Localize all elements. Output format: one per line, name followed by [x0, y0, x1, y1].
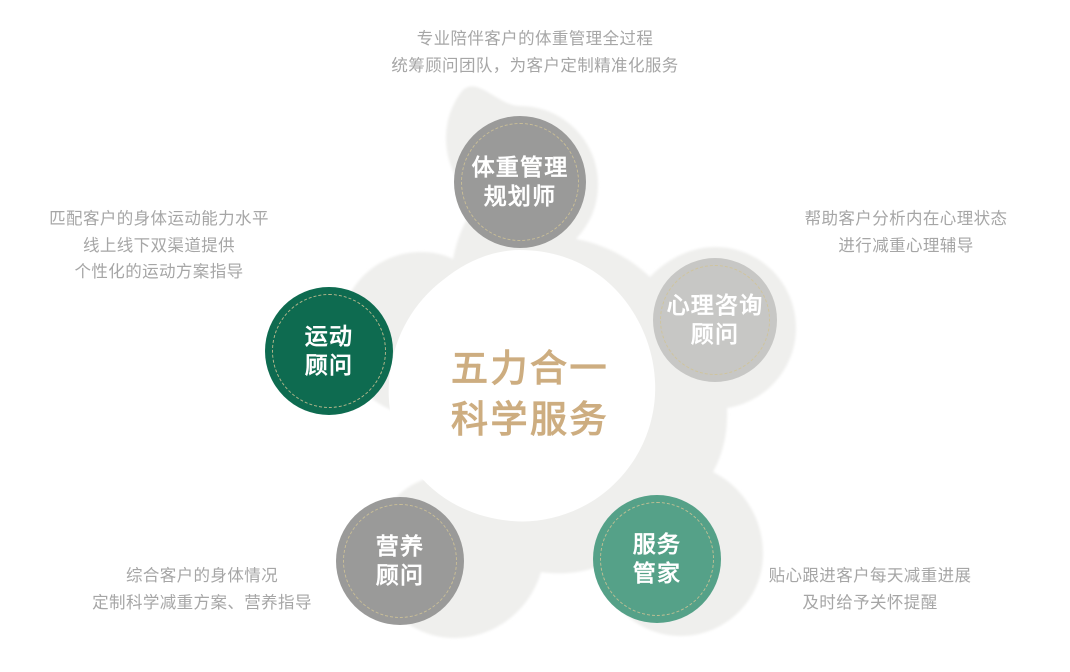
caption-right: 帮助客户分析内在心理状态 进行减重心理辅导 — [766, 206, 1046, 259]
caption-right-line2: 进行减重心理辅导 — [766, 233, 1046, 260]
petal-notches — [586, 211, 668, 279]
node-label-line2: 顾问 — [376, 561, 424, 590]
node-service-steward[interactable]: 服务 管家 — [593, 495, 721, 623]
caption-bottom-left: 综合客户的身体情况 定制科学减重方案、营养指导 — [62, 563, 342, 616]
node-label-line1: 服务 — [633, 530, 681, 559]
caption-top-line1: 专业陪伴客户的体重管理全过程 — [0, 26, 1070, 53]
caption-bottom-left-line2: 定制科学减重方案、营养指导 — [62, 590, 342, 617]
node-label-line1: 心理咨询 — [667, 291, 764, 320]
node-label-line1: 营养 — [376, 532, 424, 561]
node-label-line1: 运动 — [305, 322, 353, 351]
caption-bottom-left-line1: 综合客户的身体情况 — [62, 563, 342, 590]
node-label-line2: 顾问 — [305, 351, 353, 380]
caption-right-line1: 帮助客户分析内在心理状态 — [766, 206, 1046, 233]
node-sport-consultant[interactable]: 运动 顾问 — [265, 287, 393, 415]
caption-left-line1: 匹配客户的身体运动能力水平 — [14, 206, 304, 233]
caption-bottom-right-line2: 及时给予关怀提醒 — [730, 590, 1010, 617]
node-nutrition-consultant[interactable]: 营养 顾问 — [336, 497, 464, 625]
caption-left: 匹配客户的身体运动能力水平 线上线下双渠道提供 个性化的运动方案指导 — [14, 206, 304, 286]
node-label-line1: 体重管理 — [472, 153, 569, 182]
diagram-canvas: 专业陪伴客户的体重管理全过程 统筹顾问团队，为客户定制精准化服务 匹配客户的身体… — [0, 0, 1070, 672]
node-weight-management-planner[interactable]: 体重管理 规划师 — [454, 116, 586, 248]
caption-bottom-right: 贴心跟进客户每天减重进展 及时给予关怀提醒 — [730, 563, 1010, 616]
caption-left-line2: 线上线下双渠道提供 — [14, 233, 304, 260]
node-label-line2: 规划师 — [484, 182, 557, 211]
node-label-line2: 管家 — [633, 559, 681, 588]
caption-top: 专业陪伴客户的体重管理全过程 统筹顾问团队，为客户定制精准化服务 — [0, 26, 1070, 79]
center-title-line1: 五力合一 — [400, 343, 660, 394]
caption-bottom-right-line1: 贴心跟进客户每天减重进展 — [730, 563, 1010, 590]
caption-left-line3: 个性化的运动方案指导 — [14, 259, 304, 286]
node-psychology-consultant[interactable]: 心理咨询 顾问 — [653, 258, 777, 382]
center-title-line2: 科学服务 — [400, 394, 660, 445]
center-title: 五力合一 科学服务 — [400, 343, 660, 445]
caption-top-line2: 统筹顾问团队，为客户定制精准化服务 — [0, 53, 1070, 80]
node-label-line2: 顾问 — [691, 320, 739, 349]
